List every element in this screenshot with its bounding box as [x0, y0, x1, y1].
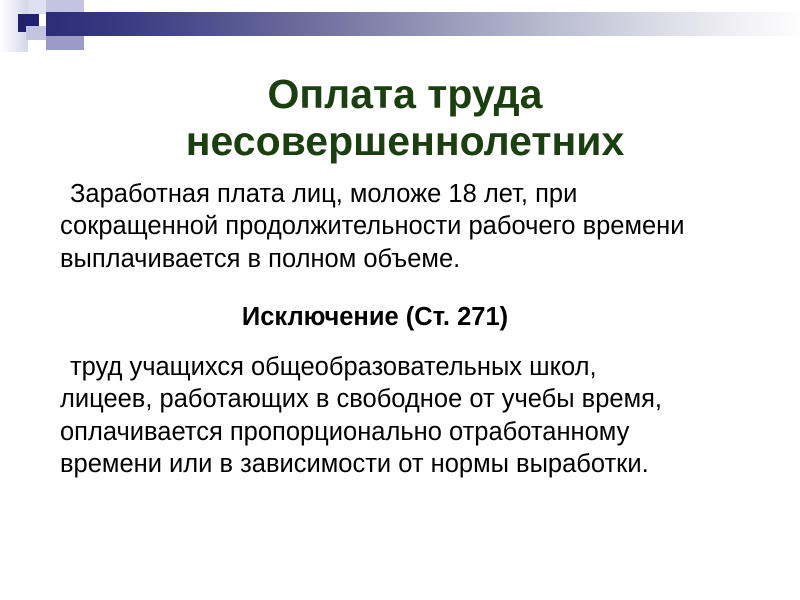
slide-title: Оплата труда несовершеннолетних	[60, 71, 750, 164]
paragraph-spacer-2	[60, 333, 690, 351]
slide-body: Заработная плата лиц, моложе 18 лет, при…	[60, 178, 690, 480]
deco-square-light-2	[26, 26, 48, 40]
slide-decoration	[0, 0, 800, 52]
exception-heading: Исключение (Ст. 271)	[60, 301, 690, 333]
deco-gradient-bar	[46, 12, 800, 36]
body-paragraph-1: Заработная плата лиц, моложе 18 лет, при…	[60, 178, 690, 275]
deco-square-mid-3	[68, 36, 84, 50]
paragraph-spacer-1	[60, 275, 690, 301]
presentation-slide: Оплата труда несовершеннолетних Заработн…	[0, 0, 800, 600]
deco-square-pale-1	[28, 0, 46, 14]
body-paragraph-2: труд учащихся общеобразовательных школ, …	[60, 351, 690, 480]
